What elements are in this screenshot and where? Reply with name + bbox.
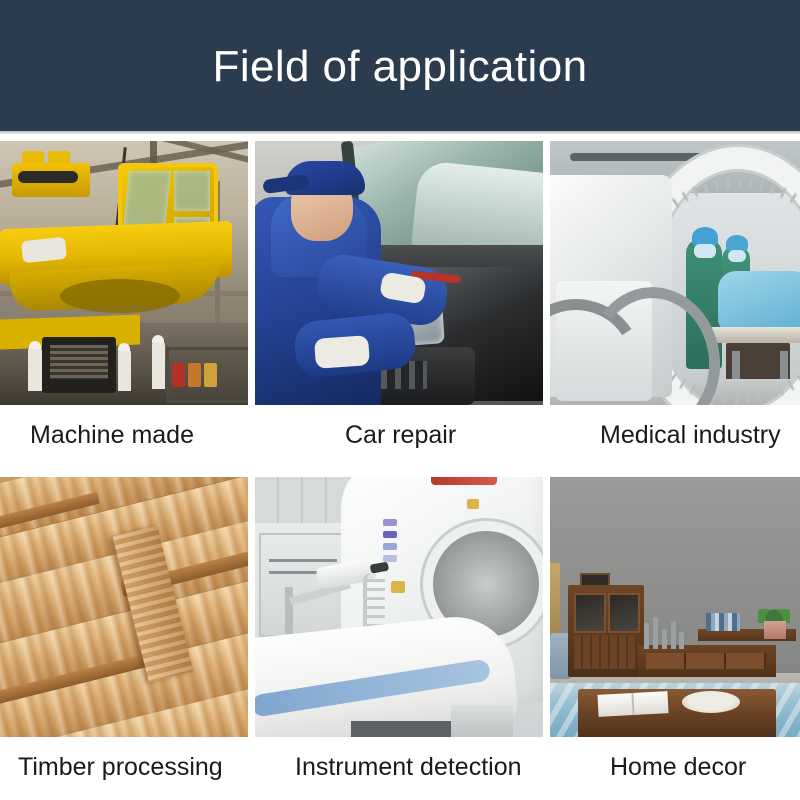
application-gallery: Machine made bbox=[0, 141, 800, 800]
page-title: Field of application bbox=[213, 45, 588, 89]
caption-home-decor: Home decor bbox=[610, 755, 746, 780]
thumbnail-car-repair bbox=[255, 141, 543, 405]
photo-living-room-furniture bbox=[550, 477, 800, 737]
header-banner: Field of application bbox=[0, 0, 800, 131]
caption-car-repair: Car repair bbox=[345, 423, 456, 448]
caption-machine-made: Machine made bbox=[30, 423, 194, 448]
gallery-tile-medical-industry[interactable]: Medical industry bbox=[550, 141, 800, 405]
gallery-tile-home-decor[interactable]: Home decor bbox=[550, 477, 800, 737]
thumbnail-timber-processing bbox=[0, 477, 248, 737]
gallery-tile-machine-made[interactable]: Machine made bbox=[0, 141, 248, 405]
photo-ct-scanner bbox=[255, 477, 543, 737]
thumbnail-machine-made bbox=[0, 141, 248, 405]
thumbnail-medical-industry bbox=[550, 141, 800, 405]
application-fields-poster: Field of application bbox=[0, 0, 800, 800]
gallery-row-1: Machine made bbox=[0, 141, 800, 477]
photo-medical-c-arm-scanner bbox=[550, 141, 800, 405]
caption-timber-processing: Timber processing bbox=[18, 755, 223, 780]
gallery-row-2: Timber processing bbox=[0, 477, 800, 800]
thumbnail-home-decor bbox=[550, 477, 800, 737]
caption-instrument-detection: Instrument detection bbox=[295, 755, 522, 780]
photo-factory-machinery bbox=[0, 141, 248, 405]
gallery-tile-timber-processing[interactable]: Timber processing bbox=[0, 477, 248, 737]
thumbnail-instrument-detection bbox=[255, 477, 543, 737]
banner-shadow-divider bbox=[0, 131, 800, 135]
gallery-tile-instrument-detection[interactable]: Instrument detection bbox=[255, 477, 543, 737]
photo-mechanic-car-repair bbox=[255, 141, 543, 405]
gallery-tile-car-repair[interactable]: Car repair bbox=[255, 141, 543, 405]
photo-stacked-lumber bbox=[0, 477, 248, 737]
caption-medical-industry: Medical industry bbox=[600, 423, 781, 448]
